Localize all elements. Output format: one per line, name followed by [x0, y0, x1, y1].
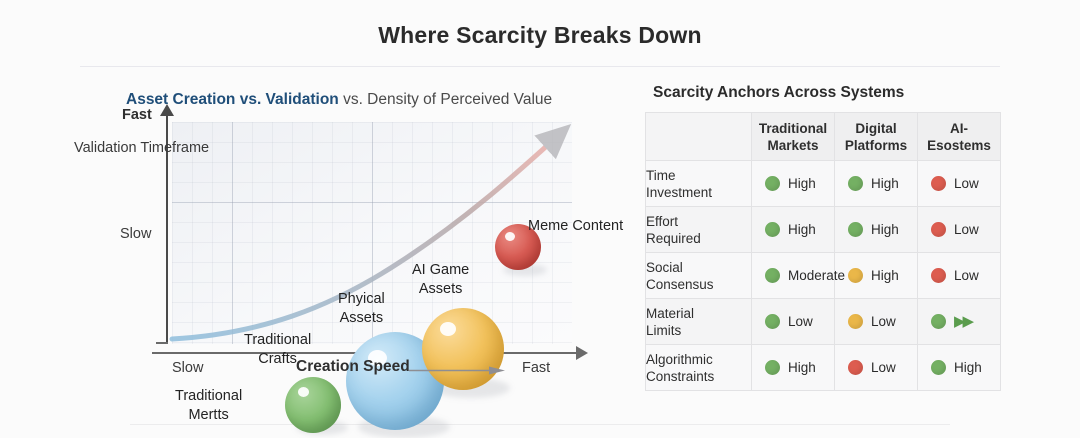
y-axis-title: Validation Timeframe — [74, 138, 209, 159]
cell-value: High — [871, 176, 899, 191]
table-row-label: Material Limits — [646, 299, 752, 345]
bubble-label-meme-content: Meme Content — [528, 217, 623, 236]
chart-subtitle-plain: vs. Density of Perceived Value — [339, 91, 552, 108]
title-divider — [80, 66, 1000, 67]
cell-value: High — [788, 360, 816, 375]
table-cell: Low — [835, 299, 918, 345]
status-dot-amber-icon — [848, 268, 863, 283]
table-panel: Scarcity Anchors Across Systems Traditio… — [645, 84, 1065, 391]
table-row-label: Algorithmic Constraints — [646, 345, 752, 391]
double-arrow-icon: ▶▶ — [954, 314, 971, 329]
cell-value: Low — [954, 176, 979, 191]
chart-subtitle-accent: Asset Creation vs. Validation — [126, 91, 339, 108]
bubble-ai-game-assets[interactable] — [422, 308, 504, 390]
table-cell: High — [752, 207, 835, 253]
status-dot-green-icon — [931, 314, 946, 329]
table-header-row: Traditional Markets Digital Platforms AI… — [646, 113, 1001, 161]
cell-value: Low — [871, 360, 896, 375]
x-axis-arrowhead-icon — [576, 346, 588, 360]
chart-subtitle: Asset Creation vs. Validation vs. Densit… — [126, 91, 552, 109]
bubble-label-ai-game-assets: AI Game Assets — [412, 261, 469, 299]
bubble-highlight — [440, 322, 456, 336]
table-cell: High — [835, 207, 918, 253]
table-header-corner — [646, 113, 752, 161]
cell-value: High — [871, 268, 899, 283]
cell-value: Low — [871, 314, 896, 329]
bubble-highlight — [298, 387, 309, 397]
status-dot-red-icon — [931, 268, 946, 283]
table-cell: High — [918, 345, 1001, 391]
cell-value: Moderate — [788, 268, 845, 283]
cell-value: Low — [954, 222, 979, 237]
table-cell: High — [835, 161, 918, 207]
x-axis-tick-label-slow: Slow — [172, 360, 203, 376]
status-dot-green-icon — [848, 222, 863, 237]
status-dot-green-icon — [765, 268, 780, 283]
table-header-ai-ecosystems: AI- Esostems — [918, 113, 1001, 161]
table-row-label: Effort Required — [646, 207, 752, 253]
table-row-label: Social Consensus — [646, 253, 752, 299]
table-cell: Low — [752, 299, 835, 345]
gridline-vertical — [232, 122, 233, 344]
bubble-label-physical-assets: Phyical Assets — [338, 290, 385, 328]
footer-divider — [130, 424, 950, 425]
table-header-digital-platforms: Digital Platforms — [835, 113, 918, 161]
status-dot-red-icon — [931, 176, 946, 191]
y-axis-tick-label-fast: Fast — [122, 107, 152, 123]
table-cell: Low — [835, 345, 918, 391]
table-row: Effort RequiredHighHighLow — [646, 207, 1001, 253]
status-dot-green-icon — [765, 222, 780, 237]
chart-panel: Asset Creation vs. Validation vs. Densit… — [0, 84, 636, 394]
status-dot-green-icon — [765, 176, 780, 191]
cell-value: High — [788, 176, 816, 191]
table-cell: Low — [918, 207, 1001, 253]
table-cell: Low — [918, 253, 1001, 299]
status-dot-green-icon — [931, 360, 946, 375]
x-axis-tick-label-fast: Fast — [522, 360, 550, 376]
status-dot-green-icon — [765, 360, 780, 375]
cell-value: High — [871, 222, 899, 237]
y-axis-tick — [156, 342, 168, 344]
table-header-traditional-markets: Traditional Markets — [752, 113, 835, 161]
bubble-traditional-crafts[interactable] — [285, 377, 341, 433]
status-dot-amber-icon — [848, 314, 863, 329]
cell-value: High — [788, 222, 816, 237]
table-cell: High — [752, 345, 835, 391]
y-axis-arrowhead-icon — [160, 104, 174, 116]
status-dot-green-icon — [765, 314, 780, 329]
table-row: Social ConsensusModerateHighLow — [646, 253, 1001, 299]
scarcity-anchors-table: Traditional Markets Digital Platforms AI… — [645, 112, 1001, 391]
status-dot-green-icon — [848, 176, 863, 191]
cell-value: Low — [788, 314, 813, 329]
table-row: Algorithmic ConstraintsHighLowHigh — [646, 345, 1001, 391]
x-axis-direction-arrow-icon — [409, 366, 509, 375]
y-axis-tick-label-slow: Slow — [120, 226, 151, 242]
table-row: Time InvestmentHighHighLow — [646, 161, 1001, 207]
table-row-label: Time Investment — [646, 161, 752, 207]
status-dot-red-icon — [931, 222, 946, 237]
bubble-label-traditional-merits: Traditional Mertts — [175, 387, 242, 425]
table-cell: High — [835, 253, 918, 299]
table-cell: ▶▶ — [918, 299, 1001, 345]
cell-value: Low — [954, 268, 979, 283]
table-row: Material LimitsLowLow▶▶ — [646, 299, 1001, 345]
gridline-horizontal — [172, 202, 572, 203]
bubble-highlight — [505, 232, 515, 241]
table-cell: High — [752, 161, 835, 207]
x-axis-title: Creation Speed — [296, 358, 410, 376]
table-cell: Low — [918, 161, 1001, 207]
page-title: Where Scarcity Breaks Down — [0, 22, 1080, 49]
cell-value: High — [954, 360, 982, 375]
table-cell: Moderate — [752, 253, 835, 299]
status-dot-red-icon — [848, 360, 863, 375]
table-title: Scarcity Anchors Across Systems — [653, 84, 1065, 102]
table-body: Time InvestmentHighHighLowEffort Require… — [646, 161, 1001, 391]
